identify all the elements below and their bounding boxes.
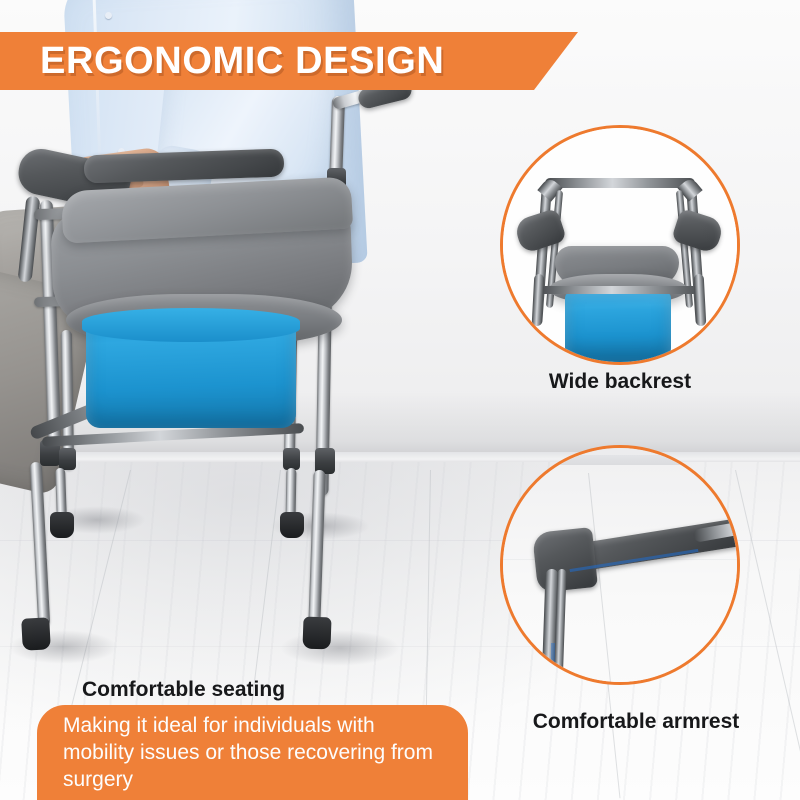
commode-chair-main	[0, 0, 470, 700]
callout-comfortable-armrest-label: Comfortable armrest	[486, 710, 786, 734]
header-title: ERGONOMIC DESIGN	[40, 34, 444, 88]
callout-wide-backrest-label: Wide backrest	[470, 370, 770, 394]
callout-comfortable-armrest[interactable]	[500, 445, 740, 685]
bucket-rim	[82, 308, 300, 342]
product-feature-graphic: ERGONOMIC DESIGN Wide bac	[0, 0, 800, 800]
armrest-closeup-image	[500, 445, 740, 685]
backrest-closeup-image	[503, 128, 737, 362]
feature-body-text: Making it ideal for individuals with mob…	[63, 712, 443, 793]
feature-title: Comfortable seating	[82, 678, 285, 702]
callout-wide-backrest[interactable]	[500, 125, 740, 365]
